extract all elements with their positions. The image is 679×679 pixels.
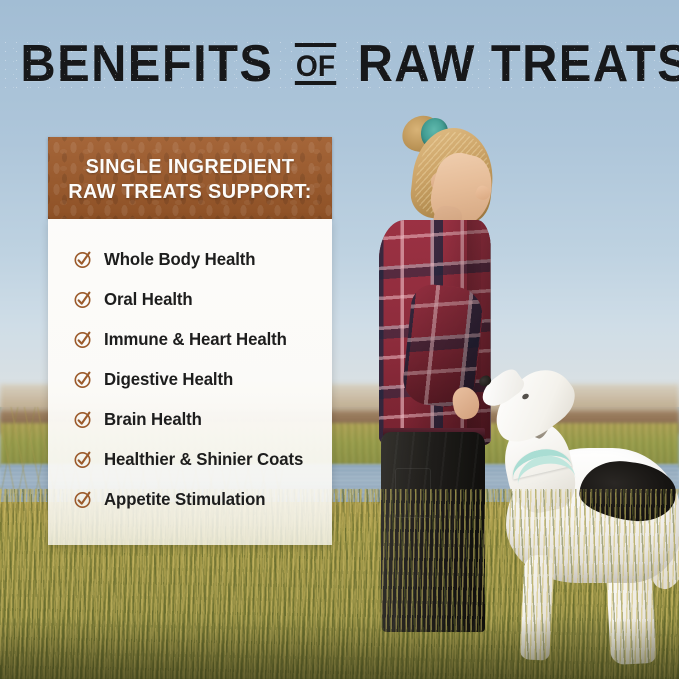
card-header-line-1: SINGLE INGREDIENT <box>86 155 295 178</box>
infographic-canvas: BENEFITS OF RAW TREATS SINGLE INGREDIENT… <box>0 0 679 679</box>
list-item-label: Appetite Stimulation <box>104 489 265 510</box>
pants-pocket <box>395 468 431 518</box>
list-item: Appetite Stimulation <box>48 479 332 519</box>
card-header-line-2: RAW TREATS SUPPORT: <box>68 180 311 203</box>
benefits-card: SINGLE INGREDIENTRAW TREATS SUPPORT: Who… <box>48 137 332 545</box>
card-body: Whole Body Health Oral Health <box>48 219 332 545</box>
grass-bottom-shadow <box>0 618 679 679</box>
list-item-label: Digestive Health <box>104 369 233 390</box>
title-part-2: RAW TREATS <box>358 35 679 93</box>
card-header-text: SINGLE INGREDIENTRAW TREATS SUPPORT: <box>66 154 314 204</box>
check-circle-icon <box>73 289 93 309</box>
list-item: Immune & Heart Health <box>48 319 332 359</box>
check-circle-icon <box>73 249 93 269</box>
list-item: Whole Body Health <box>48 239 332 279</box>
list-item-label: Whole Body Health <box>104 249 255 270</box>
check-circle-icon <box>73 329 93 349</box>
check-circle-icon <box>73 449 93 469</box>
title-part-1: BENEFITS <box>20 35 273 93</box>
list-item: Healthier & Shinier Coats <box>48 439 332 479</box>
list-item-label: Immune & Heart Health <box>104 329 287 350</box>
title-of: OF <box>295 52 336 82</box>
list-item-label: Brain Health <box>104 409 202 430</box>
list-item: Oral Health <box>48 279 332 319</box>
check-circle-icon <box>73 409 93 429</box>
check-circle-icon <box>73 369 93 389</box>
list-item-label: Healthier & Shinier Coats <box>104 449 303 470</box>
list-item: Brain Health <box>48 399 332 439</box>
check-circle-icon <box>73 489 93 509</box>
list-item: Digestive Health <box>48 359 332 399</box>
card-header: SINGLE INGREDIENTRAW TREATS SUPPORT: <box>48 137 332 219</box>
page-title: BENEFITS OF RAW TREATS <box>20 38 658 90</box>
list-item-label: Oral Health <box>104 289 193 310</box>
